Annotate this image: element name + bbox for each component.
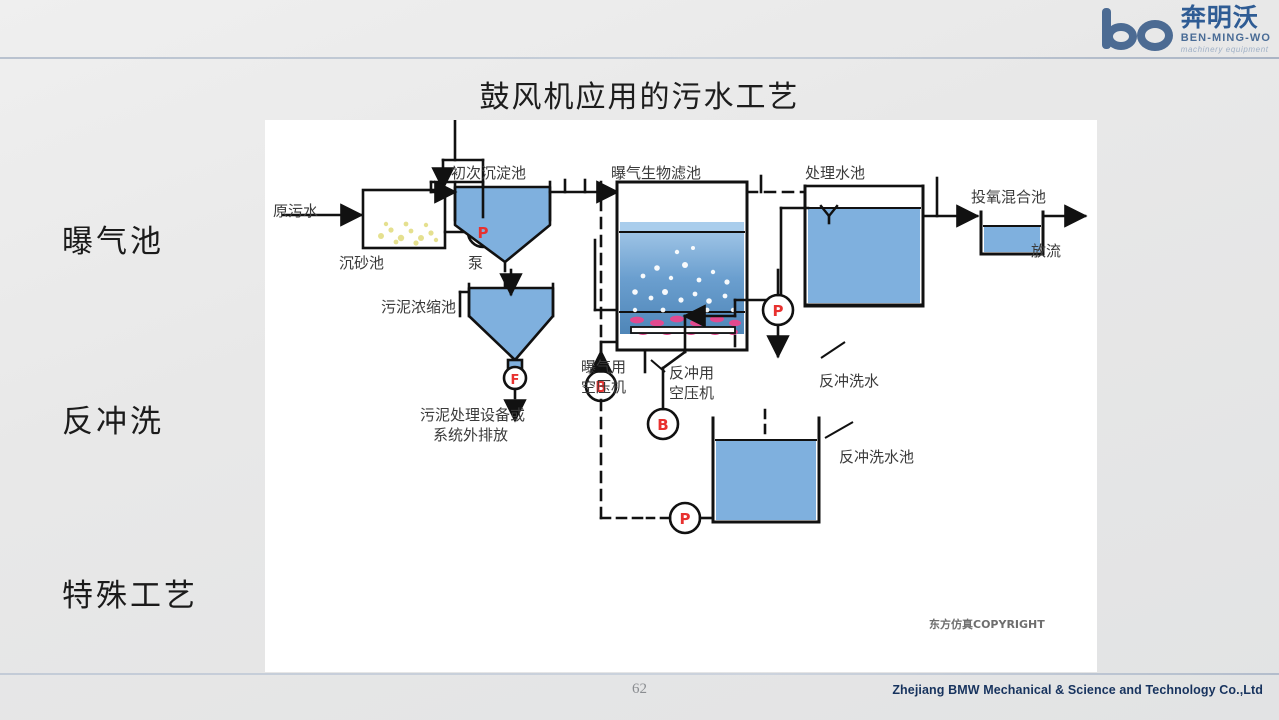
page-title: 鼓风机应用的污水工艺 xyxy=(0,72,1279,116)
label-aerated-biofilter: 曝气生物滤池 xyxy=(611,164,701,182)
label-sludge-thickener: 污泥浓缩池 xyxy=(381,298,456,316)
logo-english-name: BEN-MING-WO xyxy=(1181,33,1271,44)
diagram-watermark: 东方仿真COPYRIGHT xyxy=(929,617,1045,631)
sidebar-item-aeration-tank[interactable]: 曝气池 xyxy=(62,216,164,261)
label-sludge-outlet-line1: 污泥处理设备或 xyxy=(420,406,525,424)
label-backwash-water: 反冲洗水 xyxy=(819,372,879,390)
symbol-blower-backwash: B xyxy=(657,416,668,434)
symbol-pump-grit: P xyxy=(478,224,489,242)
symbol-pump-treated-water: P xyxy=(773,302,784,320)
slide-root: 奔明沃 BEN-MING-WO machinery equipment 鼓风机应… xyxy=(0,0,1279,720)
label-pump: 泵 xyxy=(468,254,483,272)
label-backwash-compressor-line2: 空压机 xyxy=(669,384,714,402)
label-primary-settling-tank: 初次沉淀池 xyxy=(451,164,526,182)
label-grit-chamber: 沉砂池 xyxy=(339,254,384,272)
logo-tagline: machinery equipment xyxy=(1181,46,1269,54)
label-sludge-outlet-line2: 系统外排放 xyxy=(433,426,508,444)
symbol-flow-sludge: F xyxy=(511,373,520,388)
footer-divider xyxy=(0,673,1279,675)
label-aeration-compressor-line2: 空压机 xyxy=(581,378,626,396)
header-divider xyxy=(0,57,1279,59)
label-backwash-water-tank: 反冲洗水池 xyxy=(839,448,914,466)
label-treated-water-tank: 处理水池 xyxy=(805,164,865,182)
sidebar-item-special-process[interactable]: 特殊工艺 xyxy=(62,570,198,615)
company-name: Zhejiang BMW Mechanical & Science and Te… xyxy=(892,683,1263,697)
label-discharge: 放流 xyxy=(1031,242,1061,260)
symbol-pump-backwash-tank: P xyxy=(680,510,691,528)
label-aeration-compressor-line1: 曝气用 xyxy=(581,358,626,376)
company-logo: 奔明沃 BEN-MING-WO machinery equipment xyxy=(1095,2,1271,56)
label-oxygen-dosing-tank: 投氧混合池 xyxy=(971,188,1046,206)
sidebar-item-backwash[interactable]: 反冲洗 xyxy=(62,396,164,441)
bo-monogram-icon xyxy=(1099,7,1177,51)
label-backwash-compressor-line1: 反冲用 xyxy=(669,364,714,382)
logo-chinese-name: 奔明沃 xyxy=(1181,5,1259,30)
label-raw-sewage: 原污水 xyxy=(273,202,318,220)
process-flow-diagram: P F B B P P 初次沉淀池 曝气生物滤池 处理水池 投氧混合池 放流 原… xyxy=(265,120,1097,672)
